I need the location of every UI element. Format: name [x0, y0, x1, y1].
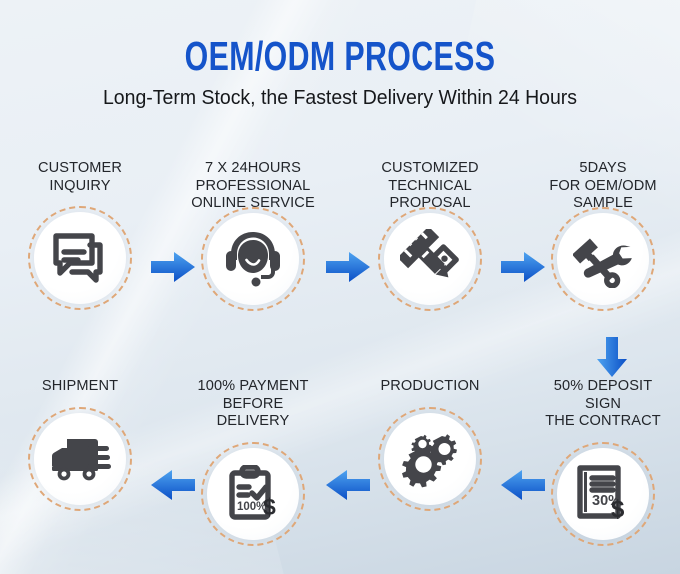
- step-icon-ring: 100% $: [201, 442, 305, 546]
- arrow-4-down: [595, 336, 629, 383]
- step-payment[interactable]: 100% PAYMENT BEFORE DELIVERY 100% $: [186, 378, 320, 546]
- step-production[interactable]: PRODUCTION: [363, 378, 497, 511]
- step-deposit-contract[interactable]: 50% DEPOSIT SIGN THE CONTRACT 30% $: [536, 378, 670, 546]
- step-icon-ring: [28, 407, 132, 511]
- step-icon-ring: [378, 207, 482, 311]
- payment-percent-text: 100%: [237, 501, 266, 513]
- arrow-7-left: [150, 469, 196, 506]
- step-icon-disc: [384, 413, 476, 505]
- step-online-service[interactable]: 7 X 24HOURS PROFESSIONAL ONLINE SERVICE: [186, 160, 320, 311]
- arrow-5-left: [500, 469, 546, 506]
- step-label: 100% PAYMENT BEFORE DELIVERY: [186, 378, 320, 431]
- step-icon-disc: [557, 213, 649, 305]
- arrow-6-left: [325, 469, 371, 506]
- step-icon-disc: 30% $: [557, 448, 649, 540]
- step-label: 7 X 24HOURS PROFESSIONAL ONLINE SERVICE: [186, 160, 320, 213]
- step-label: CUSTOMIZED TECHNICAL PROPOSAL: [363, 160, 497, 213]
- speech-bubbles-icon: [50, 230, 110, 286]
- step-icon-ring: [551, 207, 655, 311]
- step-icon-disc: [207, 213, 299, 305]
- step-icon-disc: [34, 413, 126, 505]
- step-icon-disc: [384, 213, 476, 305]
- step-label: SHIPMENT: [13, 378, 147, 396]
- step-label: CUSTOMER INQUIRY: [13, 160, 147, 195]
- step-label: 5DAYS FOR OEM/ODM SAMPLE: [536, 160, 670, 213]
- page-title: OEM/ODM PROCESS: [88, 34, 591, 78]
- step-icon-ring: [28, 206, 132, 310]
- headset-support-icon: [222, 229, 284, 289]
- delivery-truck-icon: [49, 435, 111, 483]
- dollar-symbol: $: [263, 494, 276, 520]
- step-oem-sample[interactable]: 5DAYS FOR OEM/ODM SAMPLE: [536, 160, 670, 311]
- step-technical-proposal[interactable]: CUSTOMIZED TECHNICAL PROPOSAL: [363, 160, 497, 311]
- page-subtitle: Long-Term Stock, the Fastest Delivery Wi…: [17, 86, 663, 110]
- step-icon-disc: [34, 212, 126, 304]
- step-icon-ring: [201, 207, 305, 311]
- step-icon-ring: 30% $: [551, 442, 655, 546]
- gears-icon: [399, 430, 461, 488]
- step-icon-ring: [378, 407, 482, 511]
- hammer-wrench-icon: [573, 230, 633, 288]
- dollar-symbol: $: [611, 496, 625, 523]
- step-shipment[interactable]: SHIPMENT: [13, 378, 147, 511]
- step-icon-disc: 100% $: [207, 448, 299, 540]
- step-label: 50% DEPOSIT SIGN THE CONTRACT: [536, 378, 670, 431]
- oem-odm-process-infographic: OEM/ODM PROCESS Long-Term Stock, the Fas…: [0, 0, 680, 574]
- pencil-ruler-icon: [400, 229, 460, 289]
- step-customer-inquiry[interactable]: CUSTOMER INQUIRY: [13, 160, 147, 310]
- step-label: PRODUCTION: [363, 378, 497, 396]
- clipboard-check-icon: 100% $: [223, 465, 283, 523]
- contract-document-icon: 30% $: [572, 464, 634, 524]
